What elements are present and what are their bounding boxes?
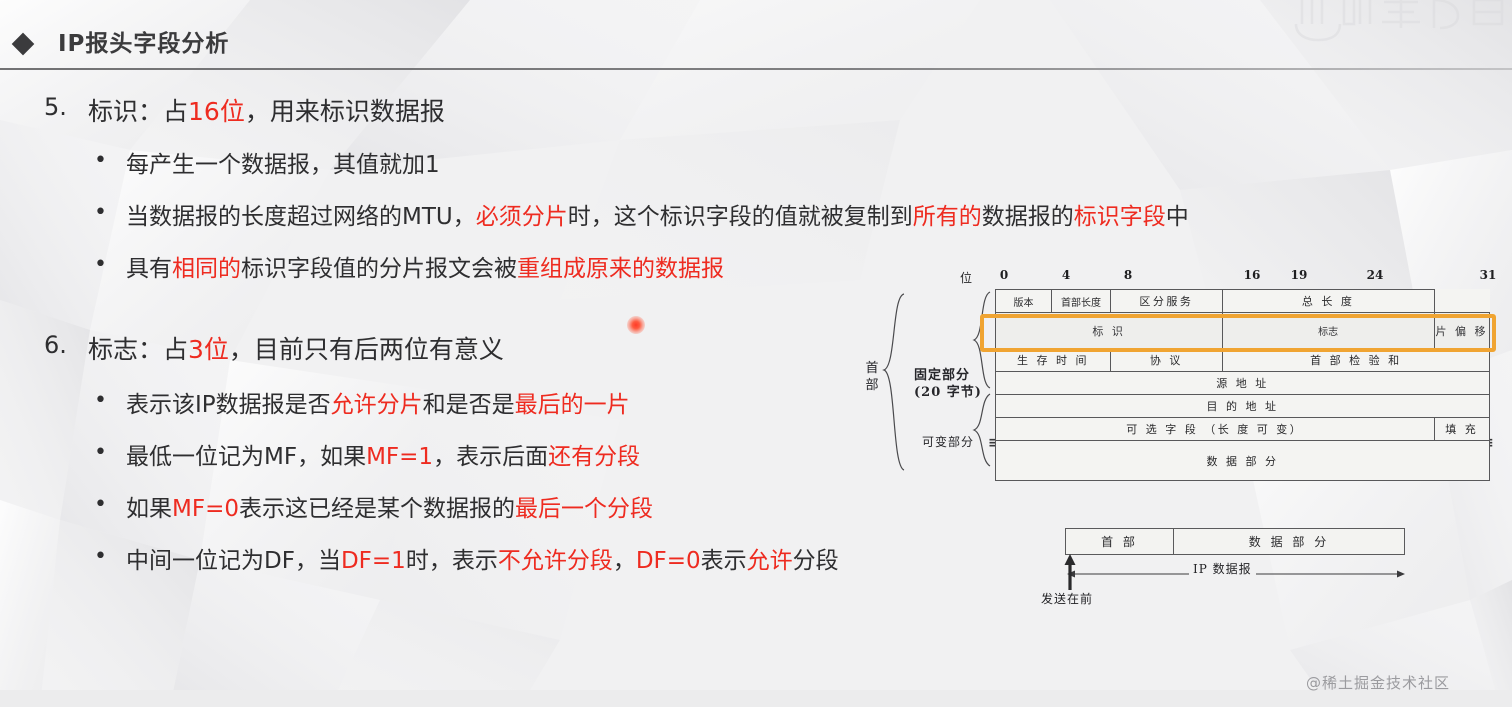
item5-seg-1: 16位 — [188, 97, 245, 126]
item6-sub0-seg-3: 最后的一片 — [515, 392, 630, 418]
field-protocol: 协 议 — [1110, 349, 1222, 372]
item6-sub2-seg-2: 表示这已经是某个数据报的 — [239, 496, 515, 522]
item6-sub3-seg-0: 中间一位记为DF，当 — [126, 548, 341, 574]
slide-header: IP报头字段分析 — [0, 0, 1512, 70]
item6-seg-2: ，目前只有后两位有意义 — [229, 335, 504, 364]
datagram-row: 首 部 数 据 部 分 — [1066, 529, 1405, 555]
bit-tick-4: 4 — [1062, 268, 1070, 282]
item6-sub2-seg-1: MF=0 — [172, 496, 239, 522]
item5-sub1-seg-6: 中 — [1166, 204, 1189, 230]
datagram-data-cell: 数 据 部 分 — [1174, 529, 1405, 555]
item6-sub1-bullet: • — [94, 442, 107, 464]
field-checksum: 首 部 检 验 和 — [1222, 349, 1489, 372]
item5-sub1-text: 当数据报的长度超过网络的MTU，必须分片时，这个标识字段的值就被复制到所有的数据… — [126, 197, 1189, 231]
item6-sub3-seg-5: DF=0 — [636, 548, 701, 574]
item6-sub0-bullet: • — [94, 390, 107, 412]
item6-sub1-seg-3: 还有分段 — [548, 444, 640, 470]
item6-sub0-seg-2: 和是否是 — [423, 392, 515, 418]
send-first-label: 发送在前 — [1041, 590, 1093, 607]
iqiyi-watermark-logo-icon — [1288, 0, 1508, 50]
item6-seg-0: 标志：占 — [88, 335, 188, 364]
item5-sub0-text: 每产生一个数据报，其值就加1 — [126, 145, 440, 179]
item5-sub1-seg-0: 当数据报的长度超过网络的MTU， — [126, 204, 476, 230]
title-divider — [0, 68, 1512, 70]
datagram-header-cell: 首 部 — [1066, 529, 1174, 555]
item5-text: 标识：占16位，用来标识数据报 — [88, 92, 445, 128]
field-dest-address: 目 的 地 址 — [996, 395, 1490, 418]
hdr-row-3: 源 地 址 — [996, 372, 1490, 395]
item5-sub1-seg-3: 所有的 — [913, 204, 982, 230]
bit-tick-16: 16 — [1244, 268, 1261, 282]
item5-seg-0: 标识：占 — [88, 97, 188, 126]
field-data-part: 数 据 部 分 — [996, 441, 1490, 481]
hdr-row-2: 生 存 时 间 协 议 首 部 检 验 和 — [996, 349, 1490, 372]
item6-sub1-seg-0: 最低一位记为MF，如果 — [126, 444, 366, 470]
bit-tick-24: 24 — [1367, 268, 1384, 282]
item6-sub3-seg-3: 不允许分段 — [498, 548, 613, 574]
item5-sub1-seg-1: 必须分片 — [476, 204, 568, 230]
field-identification: 标 识 — [996, 313, 1223, 349]
juejin-watermark-text: @稀土掘金技术社区 — [1306, 672, 1450, 693]
hdr-row-1-highlighted: 标 识 标志 片 偏 移 — [996, 313, 1490, 349]
laser-pointer-cursor — [627, 316, 645, 334]
item6-sub2-seg-3: 最后一个分段 — [515, 496, 653, 522]
bit-tick-19: 19 — [1291, 268, 1308, 282]
item6-sub3-seg-6: 表示 — [701, 548, 747, 574]
item6-sub2-seg-0: 如果 — [126, 496, 172, 522]
item5-sub1-seg-4: 数据报的 — [982, 204, 1074, 230]
item5-seg-2: ，用来标识数据报 — [245, 97, 445, 126]
page-title: IP报头字段分析 — [58, 24, 229, 58]
field-flags: 标志 — [1222, 313, 1434, 349]
item6-sub1-seg-1: MF=1 — [366, 444, 433, 470]
slide-canvas: IP报头字段分析 5. 标识：占16位，用来标识数据报 • 每产生一个数据报，其… — [0, 0, 1512, 707]
item5-sub0-bullet: • — [94, 150, 107, 172]
field-padding: 填 充 — [1434, 418, 1490, 441]
item6-sub0-seg-0: 表示该IP数据报是否 — [126, 392, 331, 418]
bit-tick-8: 8 — [1124, 268, 1132, 282]
item5-sub2-seg-3: 重组成原来的数据报 — [517, 256, 724, 282]
item6-sub3-seg-4: ， — [613, 548, 636, 574]
hdr-row-5: 可 选 字 段 （长 度 可 变） 填 充 — [996, 418, 1490, 441]
item6-sub3-seg-2: 时，表示 — [406, 548, 498, 574]
diamond-bullet-icon — [12, 33, 35, 56]
item5-sub1-bullet: • — [94, 202, 107, 224]
send-first-arrow-icon — [1063, 554, 1077, 590]
item6-sub3-seg-7: 允许 — [747, 548, 793, 574]
field-options: 可 选 字 段 （长 度 可 变） — [996, 418, 1435, 441]
field-source-address: 源 地 址 — [996, 372, 1490, 395]
item5-sub1-seg-2: 时，这个标识字段的值就被复制到 — [568, 204, 913, 230]
item6-sub2-bullet: • — [94, 494, 107, 516]
field-ihl: 首部长度 — [1051, 290, 1110, 313]
item6-seg-1: 3位 — [188, 335, 229, 364]
item6-sub2-text: 如果MF=0表示这已经是某个数据报的最后一个分段 — [126, 489, 653, 523]
hdr-row-4: 目 的 地 址 — [996, 395, 1490, 418]
item6-sub3-seg-8: 分段 — [793, 548, 839, 574]
item6-sub0-text: 表示该IP数据报是否允许分片和是否是最后的一片 — [126, 385, 630, 419]
item6-sub3-seg-1: DF=1 — [341, 548, 406, 574]
item6-sub3-text: 中间一位记为DF，当DF=1时，表示不允许分段，DF=0表示允许分段 — [126, 541, 839, 575]
hdr-row-0: 版本 首部长度 区分服务 总 长 度 — [996, 290, 1490, 313]
item6-sub3-bullet: • — [94, 546, 107, 568]
item5-sub1-seg-5: 标识字段 — [1074, 204, 1166, 230]
diagram-label-variable: 可变部分 — [922, 433, 974, 450]
item6-text: 标志：占3位，目前只有后两位有意义 — [88, 330, 504, 366]
item5-sub2-seg-2: 标识字段值的分片报文会被 — [241, 256, 517, 282]
item5-sub2-seg-1: 相同的 — [172, 256, 241, 282]
hdr-row-6: 数 据 部 分 — [996, 441, 1490, 481]
diagram-label-header-text: 首部 — [865, 361, 878, 393]
item6-sub0-seg-1: 允许分片 — [331, 392, 423, 418]
item5-sub0-seg-0: 每产生一个数据报，其值就加1 — [126, 152, 440, 178]
item5-number: 5. — [44, 93, 67, 121]
field-total-length: 总 长 度 — [1222, 290, 1434, 313]
diagram-label-fixed-line2: (20 字节) — [914, 381, 982, 400]
item5-sub2-text: 具有相同的标识字段值的分片报文会被重组成原来的数据报 — [126, 249, 724, 283]
datagram-span-label: IP 数据报 — [1189, 560, 1256, 577]
ip-datagram-diagram: 首 部 数 据 部 分 IP 数据报 发送在前 — [1055, 528, 1415, 618]
diagram-label-header: 首部 — [864, 360, 880, 394]
item5-sub2-seg-0: 具有 — [126, 256, 172, 282]
datagram-table: 首 部 数 据 部 分 — [1065, 528, 1405, 555]
item6-sub1-text: 最低一位记为MF，如果MF=1，表示后面还有分段 — [126, 437, 640, 471]
field-fragment-offset: 片 偏 移 — [1434, 313, 1490, 349]
bit-tick-31: 31 — [1480, 268, 1497, 282]
item6-number: 6. — [44, 331, 67, 359]
field-ttl: 生 存 时 间 — [996, 349, 1111, 372]
diagram-braces-svg — [862, 266, 1002, 586]
field-version: 版本 — [996, 290, 1052, 313]
ip-header-field-table: 版本 首部长度 区分服务 总 长 度 标 识 标志 片 偏 移 生 存 时 间 … — [995, 289, 1490, 481]
item5-sub2-bullet: • — [94, 254, 107, 276]
field-dscp: 区分服务 — [1110, 290, 1222, 313]
item6-sub1-seg-2: ，表示后面 — [433, 444, 548, 470]
